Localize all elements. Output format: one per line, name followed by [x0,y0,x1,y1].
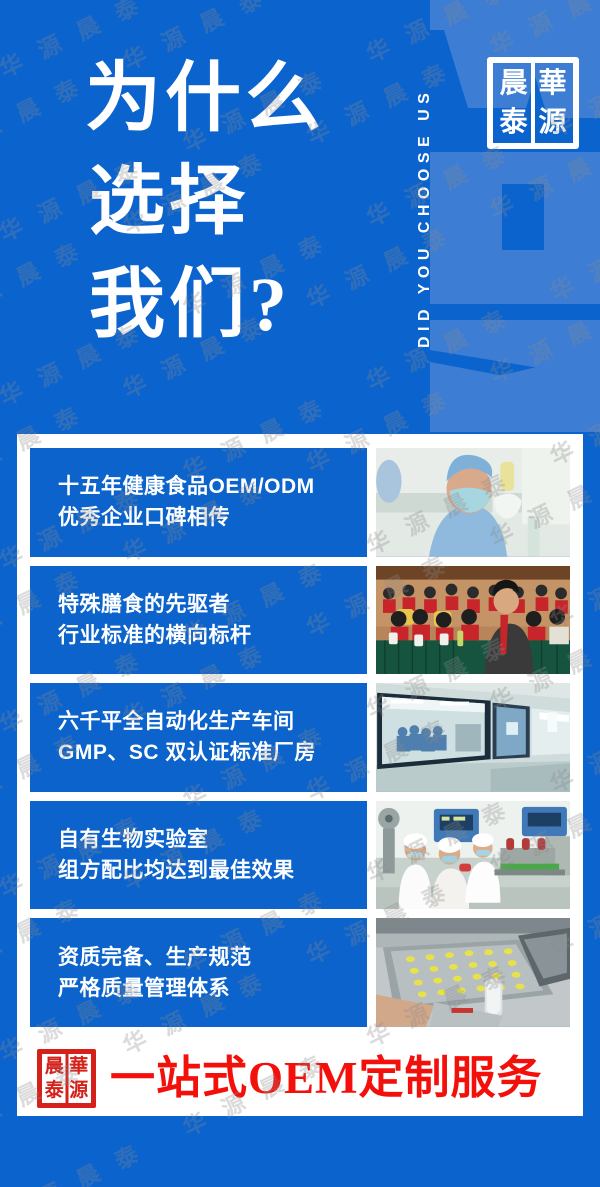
feature-line-2: GMP、SC 双认证标准厂房 [58,737,367,768]
feature-line-2: 严格质量管理体系 [58,973,367,1004]
production-line-staff-photo [376,801,570,910]
feature-line-1: 自有生物实验室 [58,824,367,855]
feature-line-1: 特殊膳食的先驱者 [58,589,367,620]
feature-card-list: 十五年健康食品OEM/ODM 优秀企业口碑相传 [30,448,570,1027]
feature-card: 六千平全自动化生产车间 GMP、SC 双认证标准厂房 [30,683,570,792]
feature-line-2: 组方配比均达到最佳效果 [58,855,367,886]
title-line-1: 为什么 [85,48,385,151]
feature-card-text: 资质完备、生产规范 严格质量管理体系 [30,918,367,1027]
seal-divider [531,61,535,145]
feature-card-text: 十五年健康食品OEM/ODM 优秀企业口碑相传 [30,448,367,557]
company-seal-logo-red: 晨 華 泰 源 [37,1049,96,1108]
feature-card: 十五年健康食品OEM/ODM 优秀企业口碑相传 [30,448,570,557]
watermark-text: 华 源 晨 泰 [0,1132,150,1187]
feature-line-2: 优秀企业口碑相传 [58,502,367,533]
feature-card-text: 自有生物实验室 组方配比均达到最佳效果 [30,801,367,910]
seal-char-1: 晨 [494,64,533,103]
poster-root: 为什么 选择 我们? DID YOU CHOOSE US 晨 華 泰 源 十五年… [0,0,600,1187]
seal-char-1: 晨 [42,1054,67,1079]
feature-line-1: 六千平全自动化生产车间 [58,706,367,737]
features-panel: 十五年健康食品OEM/ODM 优秀企业口碑相传 [17,434,583,1041]
feature-card: 特殊膳食的先驱者 行业标准的横向标杆 [30,566,570,675]
bottom-cta-banner: 晨 華 泰 源 一站式OEM定制服务 [17,1041,583,1116]
seal-char-3: 泰 [42,1079,67,1104]
conference-audience-photo [376,566,570,675]
seal-char-2: 華 [67,1054,92,1079]
feature-card: 自有生物实验室 组方配比均达到最佳效果 [30,801,570,910]
cleanroom-corridor-photo [376,683,570,792]
feature-card-text: 六千平全自动化生产车间 GMP、SC 双认证标准厂房 [30,683,367,792]
seal-char-3: 泰 [494,103,533,142]
lab-technician-photo [376,448,570,557]
poster-header: 为什么 选择 我们? DID YOU CHOOSE US 晨 華 泰 源 [0,0,600,432]
seal-char-4: 源 [533,103,572,142]
feature-line-1: 十五年健康食品OEM/ODM [58,471,367,502]
cta-text: 一站式OEM定制服务 [110,1056,543,1101]
title-line-3: 我们? [85,254,385,357]
feature-line-2: 行业标准的横向标杆 [58,620,367,651]
seal-char-4: 源 [67,1079,92,1104]
blister-packaging-photo [376,918,570,1027]
feature-card-text: 特殊膳食的先驱者 行业标准的横向标杆 [30,566,367,675]
company-seal-logo-white: 晨 華 泰 源 [487,57,579,149]
feature-card: 资质完备、生产规范 严格质量管理体系 [30,918,570,1027]
title-line-2: 选择 [85,151,385,254]
vertical-english-tagline: DID YOU CHOOSE US [400,18,434,418]
page-title: 为什么 选择 我们? [85,48,385,357]
seal-char-2: 華 [533,64,572,103]
seal-divider [65,1052,68,1105]
feature-line-1: 资质完备、生产规范 [58,942,367,973]
